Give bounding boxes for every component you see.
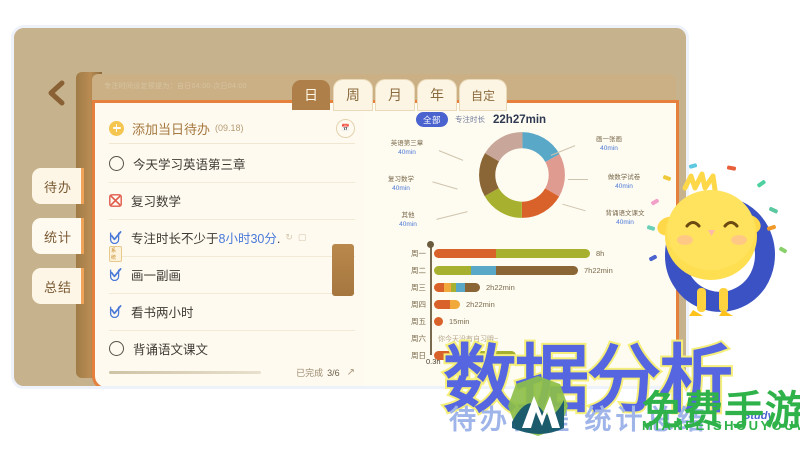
bar-row-thu[interactable]: 周四 2h22min: [374, 298, 495, 311]
bar-row-wed[interactable]: 周三 2h22min: [374, 281, 515, 294]
bar-segment: [434, 266, 471, 275]
rail-item-label: 总结: [44, 277, 72, 296]
donut-label-value: 40min: [370, 184, 432, 193]
bar-value: 2h22min: [486, 283, 515, 292]
watermark-subtitle: 待办日程 统计总结: [449, 398, 709, 437]
todo-label: 专注时长不少于8小时30分.: [131, 228, 280, 247]
tab-month[interactable]: 月: [376, 80, 414, 110]
bar-category: 周四: [374, 299, 430, 310]
bar-category: 周一: [374, 248, 430, 259]
todo-row-1[interactable]: 今天学习英语第三章: [109, 145, 355, 183]
bar-value: 7h22min: [584, 266, 613, 275]
bar-value: 8h: [596, 249, 604, 258]
bar-segment: [434, 317, 443, 326]
donut-label-0: 画一张画 40min: [576, 135, 642, 154]
stats-page: 全部 专注时长 22h27min 画一张画 40m: [364, 100, 679, 386]
share-icon[interactable]: ↗: [347, 367, 355, 378]
bar-category: 周六: [374, 333, 430, 344]
tab-week[interactable]: 周: [334, 80, 372, 110]
tab-day[interactable]: 日: [292, 80, 330, 110]
side-rail: 待办 统计 总结: [32, 168, 86, 318]
bar-category: 周二: [374, 265, 430, 276]
bar-segment: [434, 249, 496, 258]
rail-item-summary[interactable]: 总结: [32, 268, 84, 304]
notebook-band: [332, 244, 354, 296]
bar-segment: [465, 283, 480, 292]
todo-row-3[interactable]: 系统 专注时长不少于8小时30分. ↻ ▢: [109, 219, 355, 257]
stats-subtitle: 专注时长: [455, 114, 485, 125]
todo-label-suffix: .: [277, 232, 280, 246]
donut-svg: [476, 129, 568, 221]
todo-label: 复习数学: [131, 191, 181, 210]
bell-icon[interactable]: ▢: [298, 232, 307, 243]
todo-row-2[interactable]: 复习数学: [109, 182, 355, 220]
donut-label-name: 复习数学: [370, 175, 432, 184]
tab-custom[interactable]: 自定: [460, 80, 506, 110]
focus-time-note: 专注时间设定预提为：自日04:00-次日04:00: [104, 81, 247, 91]
back-button[interactable]: [40, 76, 74, 110]
leader-line: [436, 211, 467, 220]
bar-row-sun[interactable]: 周日: [374, 349, 516, 362]
bar-segment: [467, 351, 516, 360]
rail-item-stats[interactable]: 统计: [32, 218, 84, 254]
bar-value: 2h22min: [466, 300, 495, 309]
todo-label-text: 专注时长不少于: [131, 232, 219, 246]
watermark-study: Study: [743, 410, 774, 422]
rail-item-label: 统计: [44, 227, 72, 246]
notebook: 专注时间设定预提为：自日04:00-次日04:00 日 周 月 年 自定 添加当…: [76, 66, 676, 386]
mascot-svg: [645, 160, 800, 335]
checkbox-empty-icon[interactable]: [109, 156, 124, 171]
bar-segment: [434, 351, 467, 360]
todo-label: 画一副画: [131, 265, 181, 284]
donut-label-value: 40min: [576, 144, 642, 153]
donut-label-5: 英语第三章 40min: [374, 139, 440, 158]
progress-bar: [109, 371, 261, 374]
todo-label: 今天学习英语第三章: [133, 154, 246, 173]
todo-row-6[interactable]: 背诵语文课文: [109, 330, 355, 367]
checkbox-checked-icon[interactable]: [109, 268, 122, 281]
bar-segment: [456, 283, 465, 292]
bar-segment: [496, 266, 578, 275]
tab-label: 年: [430, 85, 444, 105]
donut-label-value: 40min: [374, 148, 440, 157]
bar-value: 15min: [449, 317, 469, 326]
donut-label-name: 英语第三章: [374, 139, 440, 148]
bar-row-fri[interactable]: 周五 15min: [374, 315, 469, 328]
todo-label-highlight: 8小时30分: [219, 232, 277, 246]
bar-row-sat[interactable]: 周六 你今天没有自习哦~: [374, 332, 498, 345]
add-todo-date: (09.18): [215, 123, 244, 133]
bar-row-mon[interactable]: 周一 8h: [374, 247, 604, 260]
chick-mascot: [645, 160, 800, 335]
bar-segment: [434, 283, 444, 292]
bar-category: 周日: [374, 350, 430, 361]
app-window: 待办 统计 总结 专注时间设定预提为：自日04:00-次日04:00 日 周 月…: [14, 28, 686, 386]
todo-row-5[interactable]: 看书两小时: [109, 293, 355, 331]
leader-line: [568, 179, 588, 180]
tab-label: 月: [388, 85, 402, 105]
progress-label: 已完成: [296, 366, 323, 379]
leader-line: [439, 150, 463, 161]
todo-row-4[interactable]: 画一副画: [109, 256, 355, 294]
todo-label: 看书两小时: [131, 302, 194, 321]
tab-year[interactable]: 年: [418, 80, 456, 110]
bar-row-tue[interactable]: 周二 7h22min: [374, 264, 613, 277]
add-todo-label: 添加当日待办: [132, 119, 210, 138]
todo-page: 添加当日待办 (09.18) 📅 今天学习英语第三章 复习数学: [92, 100, 367, 386]
screenshot-root: 待办 统计 总结 专注时间设定预提为：自日04:00-次日04:00 日 周 月…: [0, 0, 800, 450]
checkbox-checked-icon[interactable]: [109, 305, 122, 318]
tab-label: 日: [304, 85, 318, 105]
add-todo-row[interactable]: 添加当日待办 (09.18) 📅: [109, 113, 355, 144]
calendar-icon[interactable]: 📅: [336, 119, 355, 138]
site-watermark-en: MIANFEISHOUYOUWANG: [642, 418, 800, 433]
donut-label-name: 其他: [380, 211, 436, 220]
checkbox-empty-icon[interactable]: [109, 341, 124, 356]
tab-label: 周: [346, 85, 360, 105]
bar-segment: [471, 266, 495, 275]
donut-label-4: 复习数学 40min: [370, 175, 432, 194]
donut-label-value: 40min: [380, 220, 436, 229]
progress-value: 3/6: [327, 368, 340, 378]
bar-empty-note: 你今天没有自习哦~: [438, 334, 498, 344]
bar-segment: [434, 300, 450, 309]
bar-category: 周五: [374, 316, 430, 327]
rail-item-label: 待办: [44, 177, 72, 196]
leader-line: [432, 181, 457, 189]
progress-row: 已完成 3/6 ↗: [109, 366, 355, 379]
bar-chart: 0.3h 周一 8h 周二: [374, 243, 674, 375]
stats-total: 22h27min: [493, 114, 546, 126]
donut-label-3: 其他 40min: [380, 211, 436, 230]
period-tabs: 日 周 月 年 自定: [292, 80, 506, 110]
bar-segment: [496, 249, 590, 258]
chevron-left-icon: [40, 76, 74, 110]
donut-chart: 画一张画 40min 做数学试卷 40min 背诵语文课文 40min: [364, 125, 676, 243]
site-watermark-cn: 免费手游网: [642, 378, 800, 436]
checkbox-checked-icon[interactable]: 系统: [109, 231, 122, 244]
plus-icon: [109, 121, 124, 136]
bar-segment: [450, 300, 460, 309]
checkbox-cross-icon[interactable]: [109, 194, 122, 207]
todo-label: 背诵语文课文: [133, 339, 208, 358]
rail-item-todo[interactable]: 待办: [32, 168, 84, 204]
refresh-icon[interactable]: ↻: [285, 232, 293, 243]
tab-label: 自定: [471, 87, 495, 104]
bar-category: 周三: [374, 282, 430, 293]
donut-label-name: 画一张画: [576, 135, 642, 144]
